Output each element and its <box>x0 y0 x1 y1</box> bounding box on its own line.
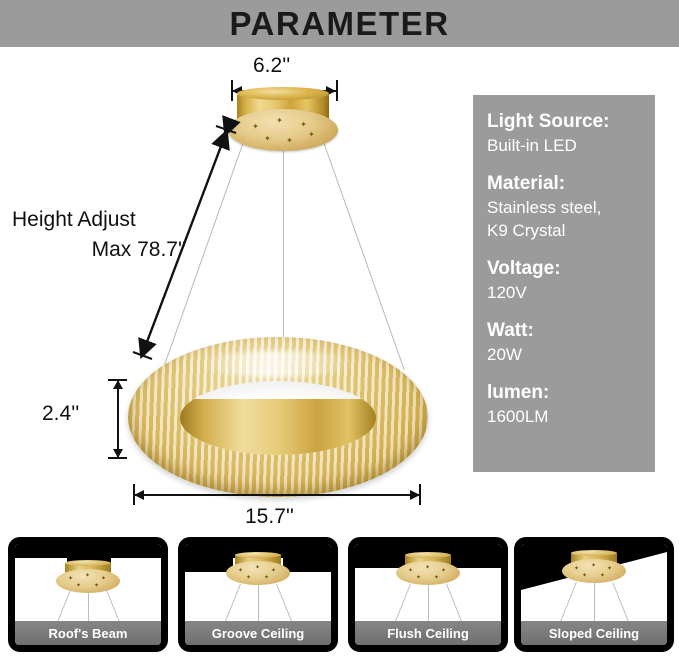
thumb-screw-icon <box>271 569 276 574</box>
ceiling-shape-left <box>15 544 67 558</box>
thumb-screw-icon <box>582 574 587 579</box>
thumb-canopy <box>56 560 120 592</box>
canopy-width-label: 6.2'' <box>253 54 290 78</box>
thumb-screw-icon <box>600 574 605 579</box>
thumb-cable-right <box>612 582 630 625</box>
canopy-screw-icon <box>264 135 271 142</box>
thumb-canopy <box>396 552 460 584</box>
canopy-screw-icon <box>300 121 307 128</box>
mounting-option-flush-ceiling[interactable]: Flush Ceiling <box>348 537 508 652</box>
thumb-screw-icon <box>434 576 439 581</box>
spec-key-voltage: Voltage: <box>487 256 655 281</box>
ring-diameter-label: 15.7'' <box>245 505 294 529</box>
spec-value-lumen: 1600LM <box>487 405 655 428</box>
mounting-illustration-flush-ceiling: Flush Ceiling <box>355 544 501 645</box>
spec-value-light-source: Built-in LED <box>487 134 655 157</box>
thumb-screw-icon <box>76 584 81 589</box>
thumb-screw-icon <box>441 569 446 574</box>
spec-value-watt: 20W <box>487 343 655 366</box>
spec-row-material: Material: Stainless steel, K9 Crystal <box>487 171 655 242</box>
mounting-caption-flush-ceiling: Flush Ceiling <box>355 621 501 645</box>
thumb-canopy-top <box>405 552 451 558</box>
thumb-screw-icon <box>425 566 430 571</box>
mounting-options-row: Roof's Beam <box>0 537 679 657</box>
mounting-caption-sloped-ceiling: Sloped Ceiling <box>521 621 667 645</box>
thumb-screw-icon <box>238 569 243 574</box>
canopy-screw-icon <box>286 137 293 144</box>
spec-key-material: Material: <box>487 171 655 196</box>
thumb-screw-icon <box>255 566 260 571</box>
parameter-infographic: PARAMETER 6.2'' <box>0 0 679 657</box>
canopy-screw-icon <box>308 131 315 138</box>
height-adjust-line-1: Height Adjust <box>12 205 194 235</box>
thumb-screw-icon <box>101 577 106 582</box>
ring-thickness-arrow-up <box>113 380 123 389</box>
ring-diameter-tick-left <box>133 484 135 505</box>
thumb-screw-icon <box>246 576 251 581</box>
thumb-canopy <box>226 552 290 584</box>
thumb-screw-icon <box>68 577 73 582</box>
thumb-screw-icon <box>264 576 269 581</box>
ring-thickness-dimension-line <box>117 380 119 458</box>
thumb-canopy-top <box>571 550 617 556</box>
thumb-cable-left <box>394 584 411 625</box>
page-title: PARAMETER <box>0 0 679 47</box>
mounting-option-groove-ceiling[interactable]: Groove Ceiling <box>178 537 338 652</box>
ring-thickness-tick-top <box>108 379 127 381</box>
crystal-ring <box>128 337 428 497</box>
mounting-option-roofs-beam[interactable]: Roof's Beam <box>8 537 168 652</box>
spec-key-watt: Watt: <box>487 318 655 343</box>
height-adjust-label: Height Adjust Max 78.7'' <box>12 205 194 265</box>
spec-value-material-line-1: Stainless steel, <box>487 196 655 219</box>
spec-row-voltage: Voltage: 120V <box>487 256 655 304</box>
ring-thickness-tick-bottom <box>108 457 127 459</box>
ring-diameter-arrow-left <box>134 490 144 500</box>
canopy-top <box>237 87 329 100</box>
mounting-illustration-sloped-ceiling: Sloped Ceiling <box>521 544 667 645</box>
height-adjust-line-2: Max 78.7'' <box>12 235 194 265</box>
thumb-screw-icon <box>574 567 579 572</box>
mounting-caption-roofs-beam: Roof's Beam <box>15 621 161 645</box>
mounting-illustration-roofs-beam: Roof's Beam <box>15 544 161 645</box>
thumb-screw-icon <box>416 576 421 581</box>
ring-thickness-label: 2.4'' <box>42 402 79 426</box>
thumb-screw-icon <box>591 564 596 569</box>
thumb-cable-right <box>446 584 463 625</box>
thumb-canopy-top <box>65 560 111 566</box>
thumb-cable-right <box>276 584 293 625</box>
suspension-cable-right <box>322 139 405 370</box>
ring-highlight <box>198 351 358 377</box>
ring-diameter-dimension-line <box>134 494 420 496</box>
thumb-canopy <box>562 550 626 582</box>
thumb-screw-icon <box>85 574 90 579</box>
mounting-caption-groove-ceiling: Groove Ceiling <box>185 621 331 645</box>
spec-row-lumen: lumen: 1600LM <box>487 380 655 428</box>
spec-value-voltage: 120V <box>487 281 655 304</box>
spec-value-material-line-2: K9 Crystal <box>487 219 655 242</box>
spec-key-light-source: Light Source: <box>487 109 655 134</box>
spec-row-watt: Watt: 20W <box>487 318 655 366</box>
thumb-screw-icon <box>94 584 99 589</box>
spec-key-lumen: lumen: <box>487 380 655 405</box>
canopy-screw-icon <box>276 117 283 124</box>
mounting-illustration-groove-ceiling: Groove Ceiling <box>185 544 331 645</box>
thumb-cable-left <box>559 582 577 625</box>
thumb-canopy-top <box>235 552 281 558</box>
ring-diameter-tick-right <box>419 484 421 505</box>
thumb-screw-icon <box>408 569 413 574</box>
canopy-screw-icon <box>252 123 259 130</box>
thumb-screw-icon <box>607 567 612 572</box>
ceiling-shape-right <box>111 544 161 558</box>
mounting-option-sloped-ceiling[interactable]: Sloped Ceiling <box>514 537 674 652</box>
spec-row-light-source: Light Source: Built-in LED <box>487 109 655 157</box>
thumb-cable-left <box>224 584 241 625</box>
ceiling-shape-right <box>283 544 331 572</box>
canopy-base-plate <box>228 109 338 151</box>
ceiling-canopy <box>228 87 338 153</box>
specifications-panel: Light Source: Built-in LED Material: Sta… <box>473 95 655 472</box>
